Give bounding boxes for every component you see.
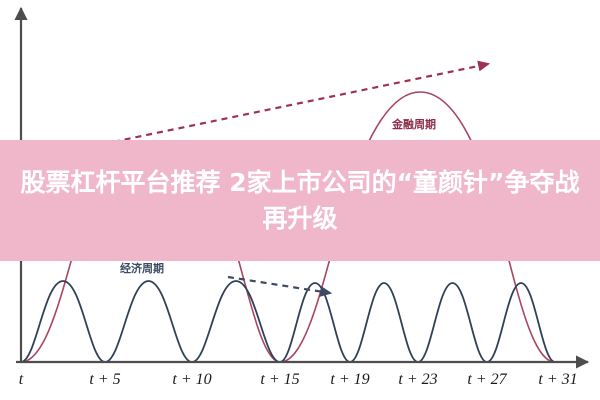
banner-title-text: 股票杠杆平台推荐 2家上市公司的“童颜针”争夺战再升级 [10, 165, 590, 237]
x-tick-label-1: t + 5 [89, 371, 120, 388]
series-economic-cycle [21, 281, 555, 362]
economic-cycle-arch-2 [105, 281, 192, 362]
economic-cycle-arch-6 [418, 283, 487, 362]
economic-cycle-arch-1 [21, 281, 105, 362]
title-banner: 股票杠杆平台推荐 2家上市公司的“童颜针”争夺战再升级 [0, 140, 600, 261]
economic-cycle-label: 经济周期 [120, 261, 164, 275]
x-tick-label-0: t [19, 371, 24, 388]
x-tick-label-6: t + 27 [467, 371, 507, 388]
financial-cycle-label: 金融周期 [391, 117, 436, 131]
economic-cycle-arch-5 [350, 283, 418, 362]
x-tick-label-4: t + 19 [330, 371, 369, 388]
x-tick-label-7: t + 31 [538, 371, 577, 388]
economic-cycle-arch-7 [487, 283, 555, 362]
x-tick-label-2: t + 10 [172, 371, 211, 388]
economic-cycle-arch-4 [280, 283, 350, 362]
x-tick-label-3: t + 15 [260, 371, 299, 388]
x-tick-label-5: t + 23 [398, 371, 437, 388]
x-axis-tick-labels: t t + 5 t + 10 t + 15 t + 19 t + 23 t + … [19, 371, 578, 388]
chart-canvas: t t + 5 t + 10 t + 15 t + 19 t + 23 t + … [0, 0, 600, 400]
